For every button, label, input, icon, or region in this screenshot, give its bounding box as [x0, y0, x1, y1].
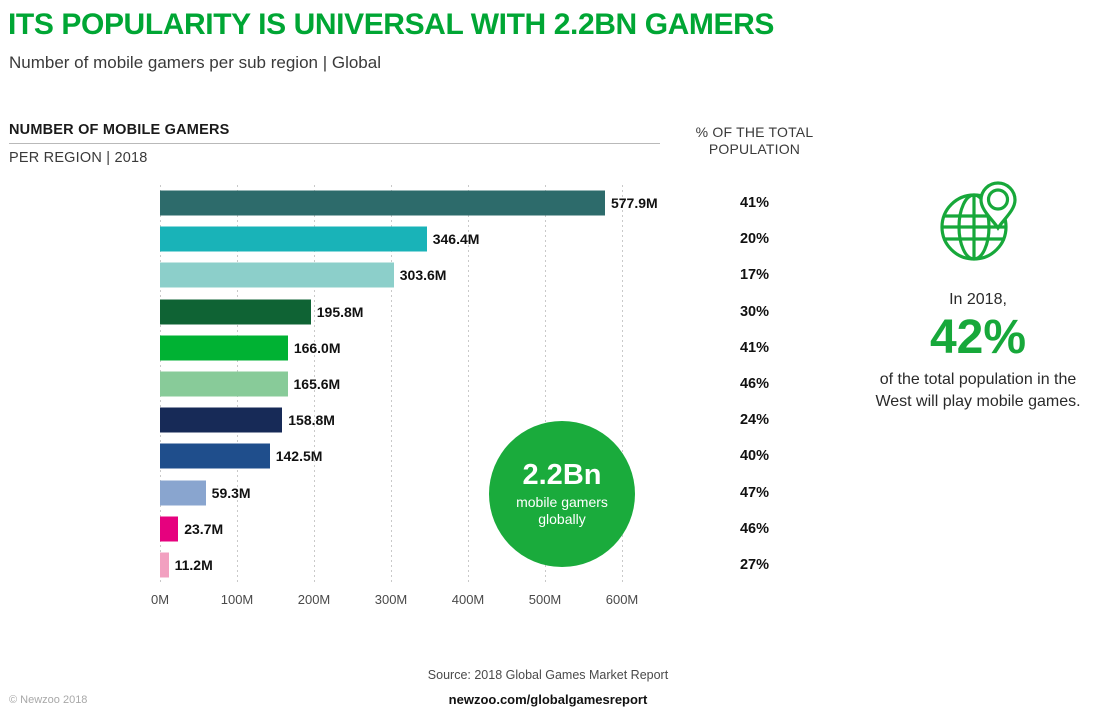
bar-eastern-europe [160, 444, 270, 469]
bar-row: Middle East & Africa346.4M20% [0, 221, 700, 257]
bar-row: Rest Asia303.6M17% [0, 257, 700, 293]
x-tick-0M: 0M [151, 592, 169, 607]
percent-value: 46% [672, 521, 837, 537]
bubble-caption-line2: globally [516, 511, 608, 528]
bar-oceania [160, 552, 169, 577]
x-tick-300M: 300M [375, 592, 408, 607]
total-gamers-bubble: 2.2Bn mobile gamers globally [489, 421, 635, 567]
panel-pre-text: In 2018, [860, 291, 1096, 309]
chart-title: NUMBER OF MOBILE GAMERS [9, 122, 230, 138]
bubble-value: 2.2Bn [523, 460, 602, 490]
panel-post-text: of the total population in the West will… [860, 369, 1096, 412]
x-tick-400M: 400M [452, 592, 485, 607]
bar-middle-east-africa [160, 227, 427, 252]
copyright-note: © Newzoo 2018 [9, 694, 87, 706]
x-tick-600M: 600M [606, 592, 639, 607]
bar-western-europe [160, 335, 288, 360]
bar-row: Western Europe166.0M41% [0, 330, 700, 366]
percent-value: 46% [672, 376, 837, 392]
bar-value-label: 195.8M [317, 304, 364, 320]
bar-rest-asia [160, 263, 394, 288]
x-axis: 0M100M200M300M400M500M600M [0, 592, 700, 612]
page-subtitle: Number of mobile gamers per sub region |… [9, 53, 381, 73]
bar-value-label: 59.3M [212, 485, 251, 501]
percent-value: 40% [672, 448, 837, 464]
percent-value: 27% [672, 557, 837, 573]
source-link[interactable]: newzoo.com/globalgamesreport [0, 692, 1096, 707]
header-divider [9, 143, 660, 144]
x-tick-100M: 100M [221, 592, 254, 607]
west-population-panel: In 2018, 42% of the total population in … [860, 175, 1096, 413]
bubble-caption: mobile gamers globally [516, 494, 608, 528]
bar-row: China577.9M41% [0, 185, 700, 221]
bar-value-label: 303.6M [400, 267, 447, 283]
percent-value: 20% [672, 231, 837, 247]
page-title: ITS POPULARITY IS UNIVERSAL WITH 2.2BN G… [8, 8, 774, 42]
bubble-caption-line1: mobile gamers [516, 494, 608, 511]
panel-big-value: 42% [860, 313, 1096, 363]
bar-value-label: 142.5M [276, 448, 323, 464]
percent-value: 41% [672, 195, 837, 211]
bar-value-label: 11.2M [175, 557, 213, 573]
bar-value-label: 577.9M [611, 195, 658, 211]
percent-value: 17% [672, 267, 837, 283]
bar-latin-america [160, 299, 311, 324]
bar-japan [160, 480, 206, 505]
chart-subtitle: PER REGION | 2018 [9, 150, 148, 166]
source-note: Source: 2018 Global Games Market Report [0, 668, 1096, 682]
bar-china [160, 191, 605, 216]
percent-column-header: % OF THE TOTAL POPULATION [672, 124, 837, 158]
bar-row: North America165.6M46% [0, 366, 700, 402]
percent-value: 30% [672, 304, 837, 320]
bar-value-label: 158.8M [288, 412, 335, 428]
bar-value-label: 165.6M [294, 376, 341, 392]
bar-value-label: 23.7M [184, 521, 223, 537]
bar-southeast-asia [160, 408, 282, 433]
x-tick-500M: 500M [529, 592, 562, 607]
bar-value-label: 166.0M [294, 340, 341, 356]
percent-value: 24% [672, 412, 837, 428]
x-tick-200M: 200M [298, 592, 331, 607]
globe-pin-icon [932, 175, 1024, 267]
bar-south-korea [160, 516, 178, 541]
bar-row: Latin America195.8M30% [0, 294, 700, 330]
infographic-page: ITS POPULARITY IS UNIVERSAL WITH 2.2BN G… [0, 0, 1096, 715]
percent-value: 41% [672, 340, 837, 356]
bar-value-label: 346.4M [433, 231, 480, 247]
bar-north-america [160, 372, 288, 397]
percent-value: 47% [672, 485, 837, 501]
